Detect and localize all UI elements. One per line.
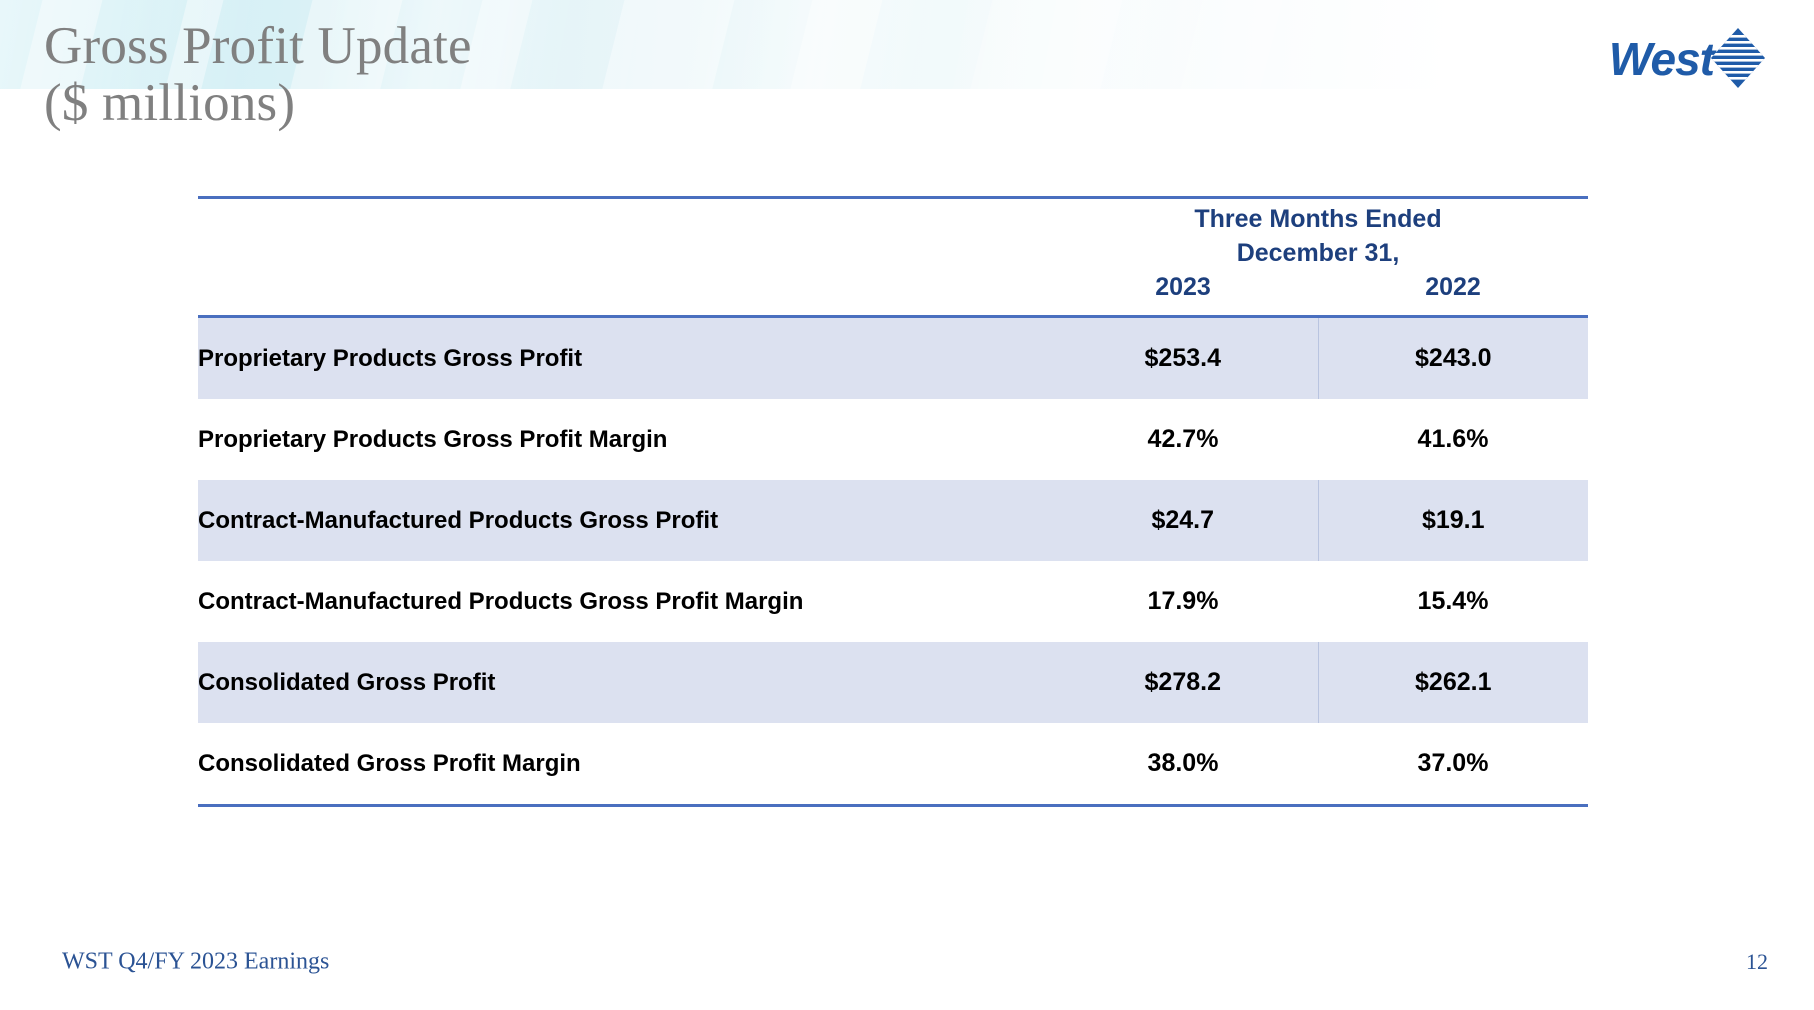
row-value-2022: 15.4% xyxy=(1318,561,1588,642)
table-row: Proprietary Products Gross Profit Margin… xyxy=(198,399,1588,480)
table-row: Consolidated Gross Profit Margin 38.0% 3… xyxy=(198,723,1588,804)
row-label: Consolidated Gross Profit xyxy=(198,642,1048,723)
row-value-2022: 37.0% xyxy=(1318,723,1588,804)
band-facet xyxy=(958,0,1133,89)
row-label: Proprietary Products Gross Profit Margin xyxy=(198,399,1048,480)
page-title: Gross Profit Update ($ millions) xyxy=(44,18,944,132)
page-number: 12 xyxy=(1746,949,1768,975)
row-value-2023: $24.7 xyxy=(1048,480,1318,561)
footer-label: WST Q4/FY 2023 Earnings xyxy=(62,949,329,976)
row-value-2022: $19.1 xyxy=(1318,480,1588,561)
table-row: Proprietary Products Gross Profit $253.4… xyxy=(198,318,1588,399)
column-header-2022: 2022 xyxy=(1318,273,1588,302)
logo-wordmark: West xyxy=(1609,36,1714,82)
table-header-area: Three Months Ended December 31, 2023 202… xyxy=(198,199,1588,315)
table-row: Contract-Manufactured Products Gross Pro… xyxy=(198,480,1588,561)
column-year-headers: 2023 2022 xyxy=(1048,273,1588,302)
row-label: Contract-Manufactured Products Gross Pro… xyxy=(198,480,1048,561)
row-value-2023: $278.2 xyxy=(1048,642,1318,723)
striped-diamond-icon xyxy=(1710,27,1766,94)
band-facet xyxy=(1168,0,1293,89)
table-bottom-rule xyxy=(198,804,1588,807)
table-row: Contract-Manufactured Products Gross Pro… xyxy=(198,561,1588,642)
row-value-2022: $243.0 xyxy=(1318,318,1588,399)
row-label: Consolidated Gross Profit Margin xyxy=(198,723,1048,804)
row-value-2023: 17.9% xyxy=(1048,561,1318,642)
row-label: Proprietary Products Gross Profit xyxy=(198,318,1048,399)
column-group-header: Three Months Ended December 31, xyxy=(1048,203,1588,271)
row-value-2022: $262.1 xyxy=(1318,642,1588,723)
row-value-2023: $253.4 xyxy=(1048,318,1318,399)
row-value-2023: 38.0% xyxy=(1048,723,1318,804)
financial-table: Proprietary Products Gross Profit $253.4… xyxy=(198,318,1588,804)
west-logo: West xyxy=(1609,28,1766,90)
row-value-2023: 42.7% xyxy=(1048,399,1318,480)
slide-canvas: Gross Profit Update ($ millions) West xyxy=(0,0,1814,1010)
financial-table-container: Three Months Ended December 31, 2023 202… xyxy=(198,196,1588,807)
table-row: Consolidated Gross Profit $278.2 $262.1 xyxy=(198,642,1588,723)
row-value-2022: 41.6% xyxy=(1318,399,1588,480)
row-label: Contract-Manufactured Products Gross Pro… xyxy=(198,561,1048,642)
column-header-2023: 2023 xyxy=(1048,273,1318,302)
